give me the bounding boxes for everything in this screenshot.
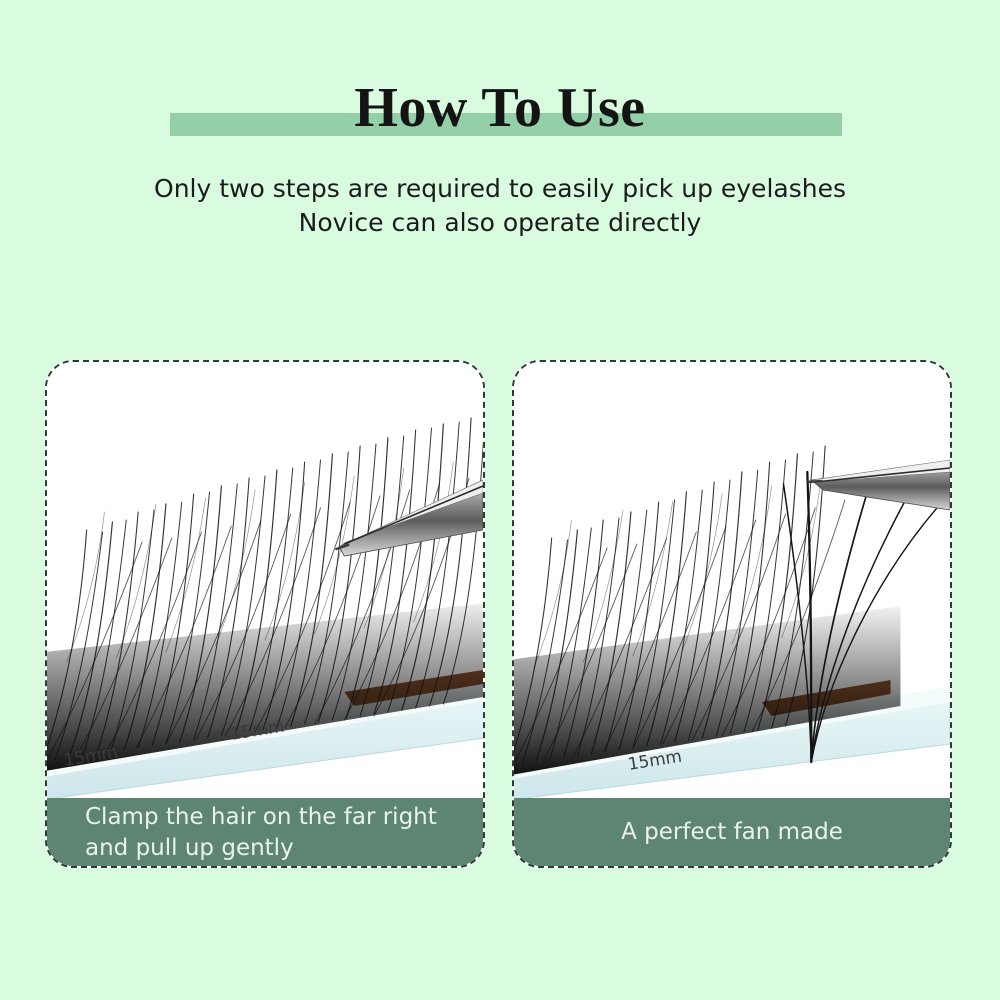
step-1-caption-line-1: Clamp the hair on the far right (85, 802, 483, 833)
header: How To Use Only two steps are required t… (0, 0, 1000, 300)
tweezers-illustration-2 (514, 362, 950, 802)
subtitle-line-2: Novice can also operate directly (0, 206, 1000, 240)
step-2-caption-line-1: A perfect fan made (514, 798, 950, 866)
step-card-1: 15mm 15mm (45, 360, 485, 868)
step-1-photo: 15mm 15mm (47, 362, 483, 802)
step-2-photo: 15mm (514, 362, 950, 802)
page-title-container: How To Use (0, 68, 1000, 148)
page-title: How To Use (354, 68, 645, 148)
subtitle-line-1: Only two steps are required to easily pi… (0, 172, 1000, 206)
tweezers-illustration-1 (47, 362, 483, 802)
step-card-2: 15mm A perfect fan (512, 360, 952, 868)
step-1-caption: Clamp the hair on the far right and pull… (47, 798, 483, 866)
step-cards-container: 15mm 15mm (0, 360, 1000, 870)
step-2-caption: A perfect fan made (514, 798, 950, 866)
page-subtitle: Only two steps are required to easily pi… (0, 172, 1000, 240)
step-1-caption-line-2: and pull up gently (85, 833, 483, 864)
